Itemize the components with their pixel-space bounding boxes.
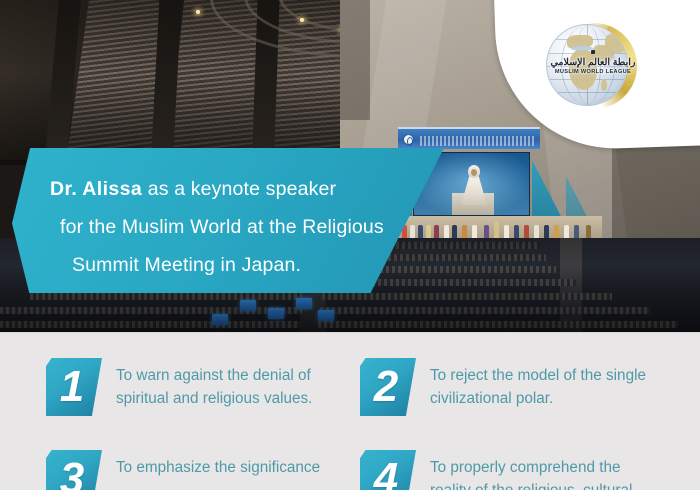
point-text-2: To reject the model of the single civili… bbox=[430, 358, 646, 410]
signage-text bbox=[420, 136, 536, 146]
point-item-4: 4 To properly comprehend the reality of … bbox=[360, 450, 680, 490]
point-item-2: 2 To reject the model of the single civi… bbox=[360, 358, 680, 416]
signage-grid bbox=[398, 127, 540, 129]
dignitary bbox=[472, 225, 477, 239]
dignitary bbox=[484, 225, 489, 239]
dignitary bbox=[534, 225, 539, 239]
point-3-line-1: To emphasize the significance bbox=[116, 456, 320, 479]
point-text-3: To emphasize the significance bbox=[116, 450, 320, 479]
point-badge-1: 1 bbox=[46, 358, 102, 416]
point-badge-2: 2 bbox=[360, 358, 416, 416]
dignitary bbox=[574, 225, 579, 239]
point-4-line-2: reality of the religious, cultural bbox=[430, 479, 632, 490]
landmass-madagascar bbox=[601, 79, 607, 91]
points-section: 1 To warn against the denial of spiritua… bbox=[0, 333, 700, 490]
muslim-world-league-logo: رابطة العالم الإسلامي MUSLIM WORLD LEAGU… bbox=[545, 19, 641, 115]
landmass-asia bbox=[605, 33, 627, 53]
headline-line-3: Summit Meeting in Japan. bbox=[50, 246, 415, 284]
speaker-face bbox=[471, 169, 477, 176]
wall-shadow bbox=[340, 0, 370, 120]
point-text-1: To warn against the denial of spiritual … bbox=[116, 358, 312, 410]
point-item-1: 1 To warn against the denial of spiritua… bbox=[46, 358, 346, 416]
point-4-line-1: To properly comprehend the bbox=[430, 456, 632, 479]
dignitary bbox=[426, 225, 431, 239]
ceiling-lamp bbox=[196, 10, 200, 14]
dignitary bbox=[586, 225, 591, 239]
logo-english-text: MUSLIM WORLD LEAGUE bbox=[545, 69, 641, 75]
stage-platform bbox=[396, 216, 602, 240]
dignitary bbox=[544, 225, 549, 239]
dignitary bbox=[434, 225, 439, 239]
headline-banner: Dr. Alissa as a keynote speaker for the … bbox=[12, 148, 444, 293]
dignitary bbox=[564, 225, 569, 239]
summit-logo-icon bbox=[403, 134, 414, 145]
point-1-line-2: spiritual and religious values. bbox=[116, 387, 312, 410]
headline-line-1-rest: as a keynote speaker bbox=[142, 178, 336, 200]
point-number-2: 2 bbox=[360, 358, 416, 416]
headline-text: Dr. Alissa as a keynote speaker for the … bbox=[50, 170, 415, 284]
globe-parallel bbox=[547, 92, 627, 93]
headline-line-1: Dr. Alissa as a keynote speaker bbox=[50, 170, 415, 208]
infographic-poster: رابطة العالم الإسلامي MUSLIM WORLD LEAGU… bbox=[0, 0, 700, 490]
speaker-figure bbox=[461, 165, 487, 205]
dignitary bbox=[410, 225, 415, 239]
point-badge-4: 4 bbox=[360, 450, 416, 490]
logo-arabic-text: رابطة العالم الإسلامي bbox=[545, 57, 641, 68]
stage-signage-banner bbox=[398, 127, 540, 149]
dignitary bbox=[418, 225, 423, 239]
dignitary bbox=[554, 225, 559, 239]
makkah-marker bbox=[591, 50, 595, 54]
point-badge-3: 3 bbox=[46, 450, 102, 490]
headline-name: Dr. Alissa bbox=[50, 178, 142, 200]
point-1-line-1: To warn against the denial of bbox=[116, 364, 312, 387]
point-number-1: 1 bbox=[46, 358, 102, 416]
point-2-line-1: To reject the model of the single bbox=[430, 364, 646, 387]
dignitary bbox=[524, 225, 529, 239]
headline-line-2: for the Muslim World at the Religious bbox=[50, 208, 415, 246]
point-text-4: To properly comprehend the reality of th… bbox=[430, 450, 632, 490]
dignitary bbox=[514, 225, 519, 239]
point-number-4: 4 bbox=[360, 450, 416, 490]
point-item-3: 3 To emphasize the significance bbox=[46, 450, 346, 490]
dignitary bbox=[504, 225, 509, 239]
point-number-3: 3 bbox=[46, 450, 102, 490]
dignitary bbox=[444, 225, 449, 239]
dignitary bbox=[494, 221, 499, 239]
ceiling-lamp bbox=[300, 18, 304, 22]
speaker-robe bbox=[461, 176, 487, 205]
dignitary bbox=[462, 225, 467, 239]
dignitary bbox=[452, 225, 457, 239]
point-2-line-2: civilizational polar. bbox=[430, 387, 646, 410]
